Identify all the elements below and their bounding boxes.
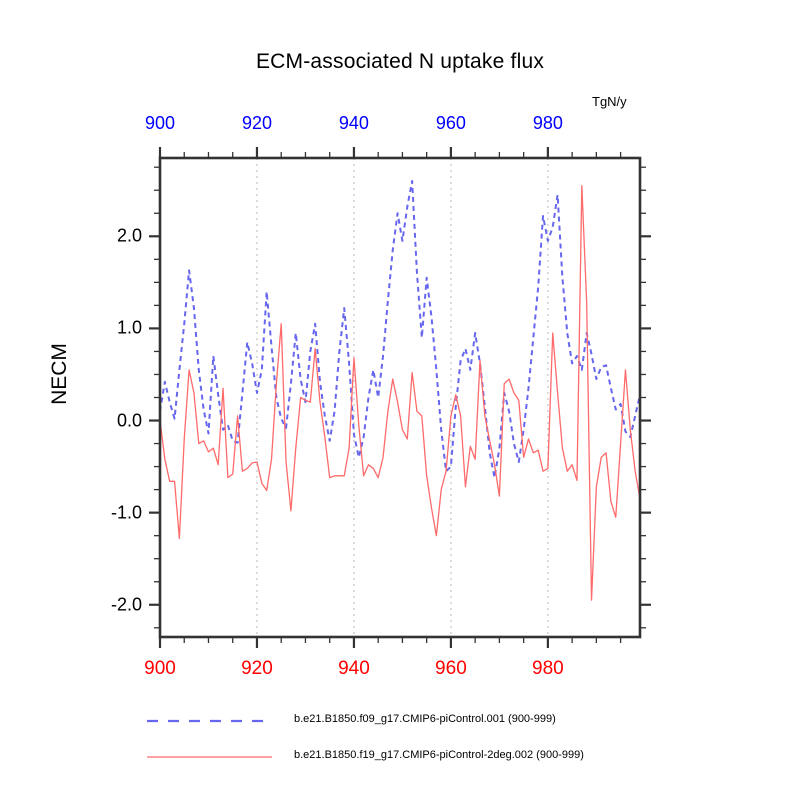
legend-label-1: b.e21.B1850.f19_g17.CMIP6-piControl-2deg…	[294, 749, 584, 761]
x-tick-label-top-960: 960	[436, 113, 466, 134]
x-tick-label-bottom-940: 940	[338, 658, 370, 680]
data-series-layer	[160, 181, 640, 600]
x-tick-label-bottom-960: 960	[435, 658, 467, 680]
legend-label-0: b.e21.B1850.f09_g17.CMIP6-piControl.001 …	[294, 713, 556, 725]
series-line-1	[160, 186, 640, 601]
series-line-0	[160, 181, 640, 478]
legend-line-samples	[147, 721, 272, 757]
y-tick-label-2.0: 2.0	[60, 226, 142, 247]
x-tick-label-top-920: 920	[242, 113, 272, 134]
x-tick-label-bottom-900: 900	[144, 658, 176, 680]
y-tick-label-1.0: 1.0	[60, 318, 142, 339]
plot-area	[0, 0, 800, 800]
figure-root: ECM-associated N uptake flux TgN/y NECM …	[0, 0, 800, 800]
x-tick-label-bottom-920: 920	[241, 658, 273, 680]
y-tick-label-0.0: 0.0	[60, 410, 142, 431]
y-tick-label--1.0: -1.0	[60, 502, 142, 523]
y-tick-label--2.0: -2.0	[60, 594, 142, 615]
x-tick-label-bottom-980: 980	[532, 658, 564, 680]
x-tick-label-top-900: 900	[145, 113, 175, 134]
x-tick-label-top-940: 940	[339, 113, 369, 134]
x-tick-label-top-980: 980	[533, 113, 563, 134]
